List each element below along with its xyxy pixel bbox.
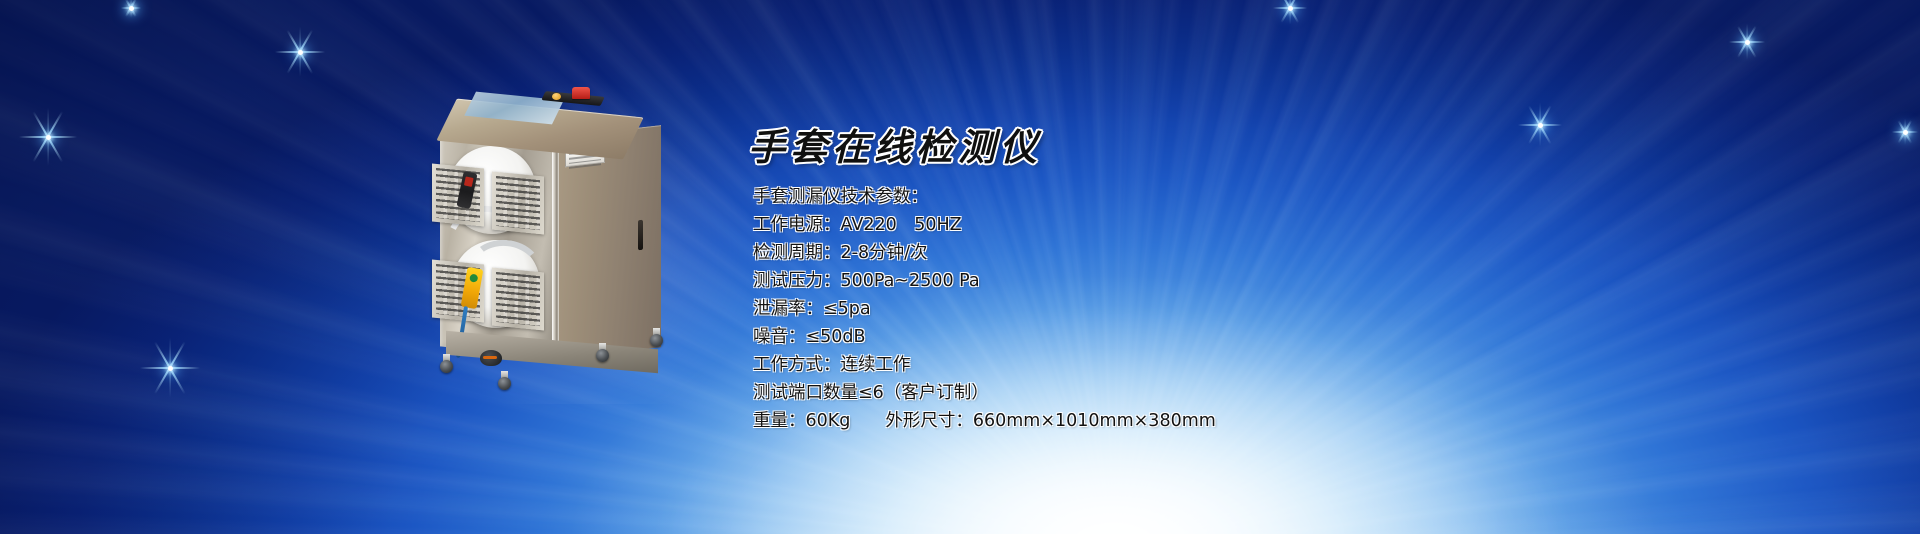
caster-wheel	[440, 354, 453, 373]
spec-line-4: 泄漏率：≤5pa	[753, 295, 1513, 323]
spec-line-5: 噪音：≤50dB	[753, 323, 1513, 351]
copy-block: 手套在线检测仪 手套测漏仪技术参数：工作电源：AV220 50HZ检测周期：2-…	[753, 128, 1513, 435]
spec-line-7: 测试端口数量≤6（客户订制）	[753, 379, 1513, 407]
spec-line-0: 手套测漏仪技术参数：	[753, 183, 1513, 211]
foot-pedal	[480, 350, 502, 366]
banner-title: 手套在线检测仪	[748, 128, 1513, 171]
specification-list: 手套测漏仪技术参数：工作电源：AV220 50HZ检测周期：2-8分钟/次测试压…	[753, 183, 1513, 435]
indicator-lamp-amber	[552, 93, 561, 100]
caster-wheel	[596, 343, 609, 362]
vent-panel-lower-right	[492, 267, 544, 330]
emergency-stop-button	[572, 87, 590, 99]
spec-line-1: 工作电源：AV220 50HZ	[753, 211, 1513, 239]
caster-wheel	[498, 371, 511, 390]
machine-door-handle	[638, 220, 643, 251]
spec-line-2: 检测周期：2-8分钟/次	[753, 239, 1513, 267]
machine-corner-edge	[552, 136, 559, 348]
spec-line-8: 重量：60Kg 外形尺寸：660mm×1010mm×380mm	[753, 407, 1513, 435]
spec-line-6: 工作方式：连续工作	[753, 351, 1513, 379]
promo-banner: 1 2 手套在线检测仪 手套测漏仪技术参数：工作电源：AV220 50HZ检测周…	[0, 0, 1920, 534]
vent-panel-upper-right	[492, 171, 544, 234]
caster-wheel	[650, 328, 663, 347]
spec-line-3: 测试压力：500Pa~2500 Pa	[753, 267, 1513, 295]
product-image-glove-leak-tester: 1 2	[434, 88, 734, 398]
